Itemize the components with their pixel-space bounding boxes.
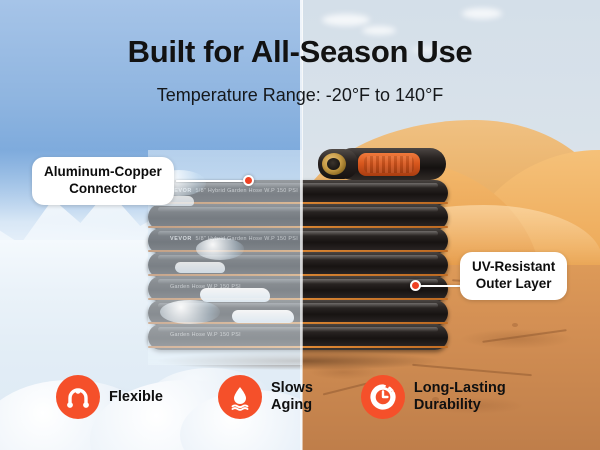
- hose-brand: VEVOR: [170, 236, 192, 242]
- hose-loop: VEVOR 5/8" Hybrid Garden Hose W.P 150 PS…: [148, 228, 448, 254]
- hose-spec: 5/8" Hybrid Garden Hose W.P 150 PSI: [195, 188, 298, 194]
- callout-point-connector: [243, 175, 254, 186]
- hose-spec: Garden Hose W.P 150 PSI: [170, 332, 241, 338]
- connector-bore-hole: [327, 158, 340, 170]
- hose-loop: [148, 204, 448, 230]
- flex-arch-icon: [56, 375, 100, 419]
- feature-label: Long-Lasting Durability: [414, 380, 506, 413]
- hose-print: Garden Hose W.P 150 PSI: [170, 332, 241, 338]
- feature-label: Flexible: [109, 389, 163, 406]
- cloud: [462, 8, 502, 19]
- hose-loop: [148, 252, 448, 278]
- pebble: [512, 323, 518, 327]
- hose-highlight: [158, 255, 438, 260]
- feature-row: Flexible Slows Aging: [0, 372, 600, 422]
- hose-coil: VEVOR 5/8" Hybrid Garden Hose W.P 150 PS…: [148, 162, 448, 362]
- promo-banner: VEVOR 5/8" Hybrid Garden Hose W.P 150 PS…: [0, 0, 600, 450]
- callout-leader-line-right: [415, 285, 465, 287]
- subtitle: Temperature Range: -20°F to 140°F: [0, 86, 600, 104]
- page-title: Built for All-Season Use: [0, 36, 600, 67]
- hose-highlight: [158, 303, 438, 308]
- hose-spec: Garden Hose W.P 150 PSI: [170, 284, 241, 290]
- callout-uv-resistant-outer-layer: UV-Resistant Outer Layer: [460, 252, 567, 300]
- hose-orange-stripe: [148, 346, 448, 349]
- feature-slows-aging: Slows Aging: [218, 375, 313, 419]
- callout-point-outer-layer: [410, 280, 421, 291]
- feature-label: Slows Aging: [271, 380, 313, 413]
- hose-highlight: [158, 207, 438, 212]
- hose-spec: 5/8" Hybrid Garden Hose W.P 150 PSI: [195, 236, 298, 242]
- hose-print: VEVOR 5/8" Hybrid Garden Hose W.P 150 PS…: [170, 236, 298, 242]
- feature-long-lasting-durability: Long-Lasting Durability: [361, 375, 506, 419]
- aluminum-copper-connector-top: [318, 148, 446, 182]
- hose-print: Garden Hose W.P 150 PSI: [170, 284, 241, 290]
- callout-aluminum-copper-connector: Aluminum-Copper Connector: [32, 157, 174, 205]
- water-drop-waves-icon: [218, 375, 262, 419]
- hose-loop: Garden Hose W.P 150 PSI: [148, 324, 448, 350]
- hose-loop: [148, 300, 448, 326]
- cloud: [322, 14, 370, 26]
- connector-grip: [358, 153, 420, 176]
- hose-print: VEVOR 5/8" Hybrid Garden Hose W.P 150 PS…: [170, 188, 298, 194]
- callout-leader-line-left: [176, 180, 250, 182]
- hose-loop: VEVOR 5/8" Hybrid Garden Hose W.P 150 PS…: [148, 180, 448, 206]
- feature-flexible: Flexible: [56, 375, 163, 419]
- clock-history-icon: [361, 375, 405, 419]
- hose-loop: Garden Hose W.P 150 PSI: [148, 276, 448, 302]
- ground-crack: [482, 329, 566, 343]
